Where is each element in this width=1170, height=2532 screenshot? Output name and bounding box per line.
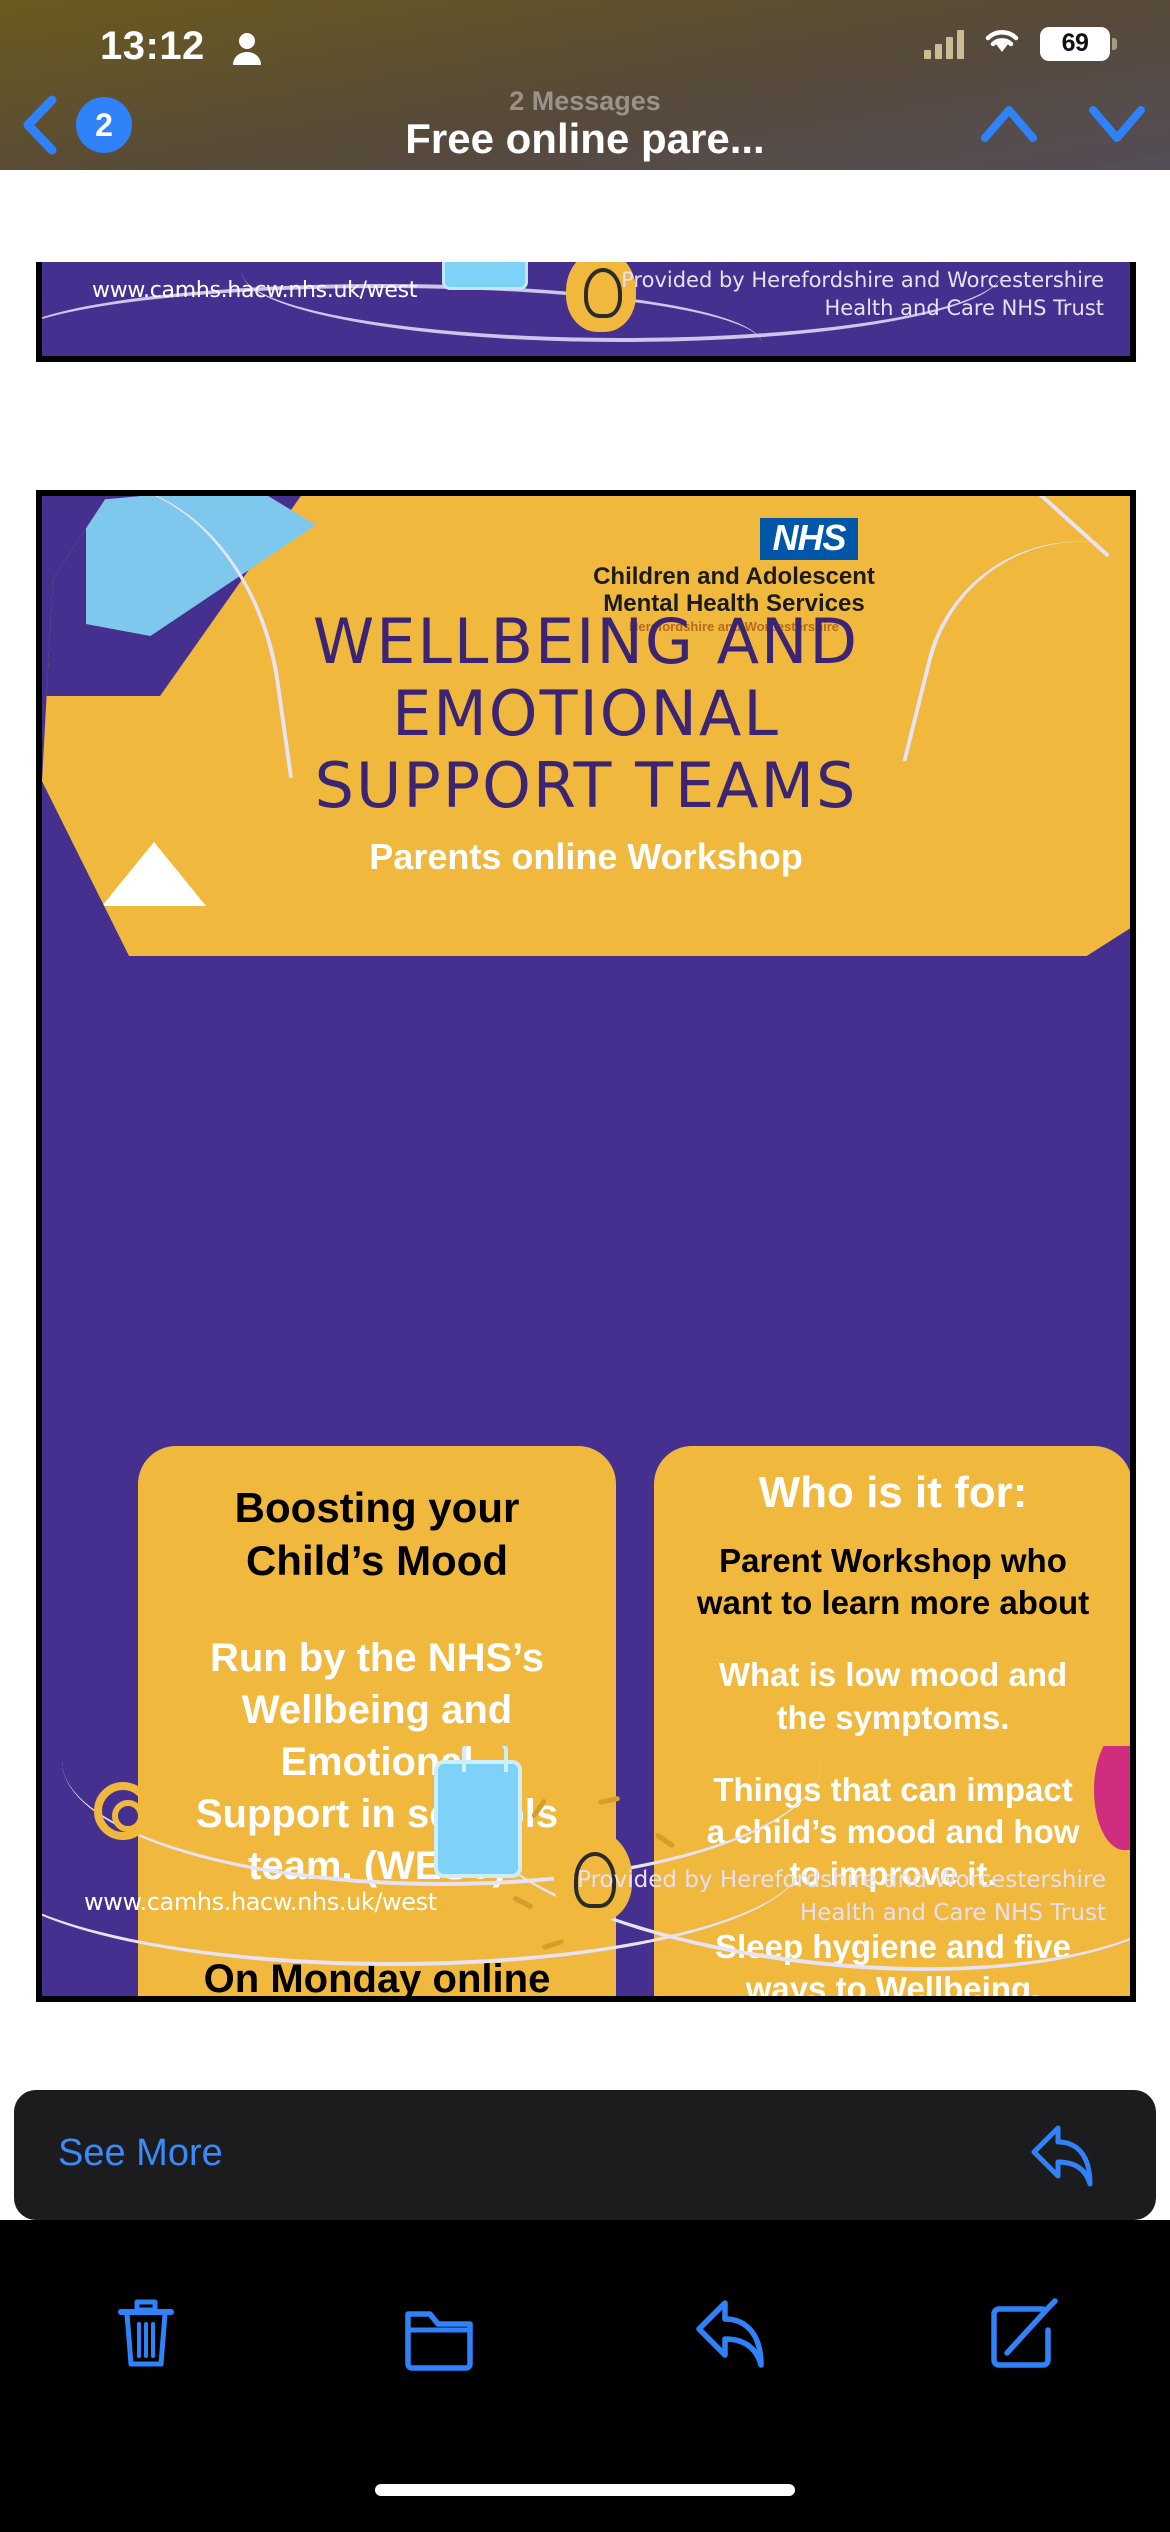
previous-attachment-poster[interactable]: www.camhs.hacw.nhs.uk/west Provided by H… [36, 262, 1136, 362]
message-pager [980, 102, 1146, 149]
right-card-point-1: What is low mood and the symptoms. [654, 1654, 1132, 1738]
message-detail-screen: www.camhs.hacw.nhs.uk/west Provided by H… [0, 0, 1170, 2532]
folder-icon [400, 2294, 478, 2372]
left-card-body-line-2: Wellbeing and [138, 1684, 616, 1736]
compose-icon [985, 2293, 1063, 2373]
home-indicator [375, 2484, 795, 2496]
suitcase-icon [434, 1760, 522, 1878]
poster-title-line-1: WELLBEING AND [42, 606, 1130, 678]
see-more-bar[interactable]: See More [14, 2090, 1156, 2220]
right-card-title: Who is it for: [654, 1468, 1132, 1518]
poster-title-line-2: EMOTIONAL [42, 678, 1130, 750]
org-line-1: Children and Adolescent [534, 563, 934, 591]
decorative-circle [992, 886, 1112, 996]
left-card-title: Boosting your Child’s Mood [138, 1482, 616, 1588]
left-card-title-line-1: Boosting your [138, 1482, 616, 1535]
wifi-icon [982, 26, 1022, 61]
partial-poster-url: www.camhs.hacw.nhs.uk/west [92, 278, 417, 303]
reply-arrow-icon [1024, 2118, 1100, 2194]
next-message-button[interactable] [1088, 102, 1146, 149]
provider-line-1: Provided by Herefordshire and Worcesters… [577, 1864, 1106, 1897]
status-clock: 13:12 [100, 24, 205, 69]
poster-title-line-3: SUPPORT TEAMS [42, 750, 1130, 822]
bottom-toolbar [0, 2220, 1170, 2532]
intro-line-2: want to learn more about [670, 1582, 1116, 1624]
move-to-folder-button[interactable] [293, 2278, 586, 2388]
compose-button[interactable] [878, 2278, 1170, 2388]
spiral-icon [938, 912, 1000, 972]
provider-line-1: Provided by Herefordshire and Worcesters… [621, 266, 1104, 294]
navigation-bar: 2 2 Messages Free online pare... [0, 88, 1170, 170]
reply-button[interactable] [1024, 2118, 1100, 2199]
suitcase-icon [442, 262, 528, 290]
point1-line-2: the symptoms. [674, 1697, 1112, 1739]
battery-level: 69 [1062, 29, 1089, 58]
cellular-signal-icon [924, 29, 964, 59]
poster-attachment[interactable]: NHS Children and Adolescent Mental Healt… [36, 490, 1136, 2002]
poster-subtitle: Parents online Workshop [42, 836, 1130, 878]
reply-button[interactable] [585, 2278, 878, 2388]
status-bar: 13:12 69 [0, 0, 1170, 88]
poster-footer-provider: Provided by Herefordshire and Worcesters… [577, 1864, 1106, 1931]
toolbar-buttons [0, 2278, 1170, 2388]
previous-message-button[interactable] [980, 102, 1038, 149]
poster-footer: www.camhs.hacw.nhs.uk/west Provided by H… [42, 1746, 1130, 1996]
intro-line-1: Parent Workshop who [670, 1540, 1116, 1582]
nhs-logo: NHS [760, 518, 857, 560]
person-icon [232, 32, 262, 71]
poster-footer-url: www.camhs.hacw.nhs.uk/west [84, 1888, 437, 1916]
chevron-down-icon [1088, 102, 1146, 144]
provider-line-2: Health and Care NHS Trust [577, 1897, 1106, 1930]
left-card-title-line-2: Child’s Mood [138, 1535, 616, 1588]
point1-line-1: What is low mood and [674, 1654, 1112, 1696]
spiral-icon [94, 1782, 152, 1840]
partial-poster-provider: Provided by Herefordshire and Worcesters… [621, 266, 1104, 323]
message-scroll-area[interactable]: www.camhs.hacw.nhs.uk/west Provided by H… [0, 0, 1170, 2090]
top-bar: 13:12 69 [0, 0, 1170, 170]
provider-line-2: Health and Care NHS Trust [621, 294, 1104, 322]
status-indicators: 69 [924, 26, 1110, 61]
right-card-intro: Parent Workshop who want to learn more a… [654, 1540, 1132, 1624]
chevron-up-icon [980, 102, 1038, 144]
poster-title: WELLBEING AND EMOTIONAL SUPPORT TEAMS [42, 606, 1130, 822]
delete-button[interactable] [0, 2278, 293, 2388]
left-card-body-line-1: Run by the NHS’s [138, 1632, 616, 1684]
see-more-button[interactable]: See More [58, 2132, 223, 2175]
reply-icon [689, 2293, 773, 2373]
trash-icon [111, 2292, 181, 2374]
battery-indicator: 69 [1040, 27, 1110, 61]
